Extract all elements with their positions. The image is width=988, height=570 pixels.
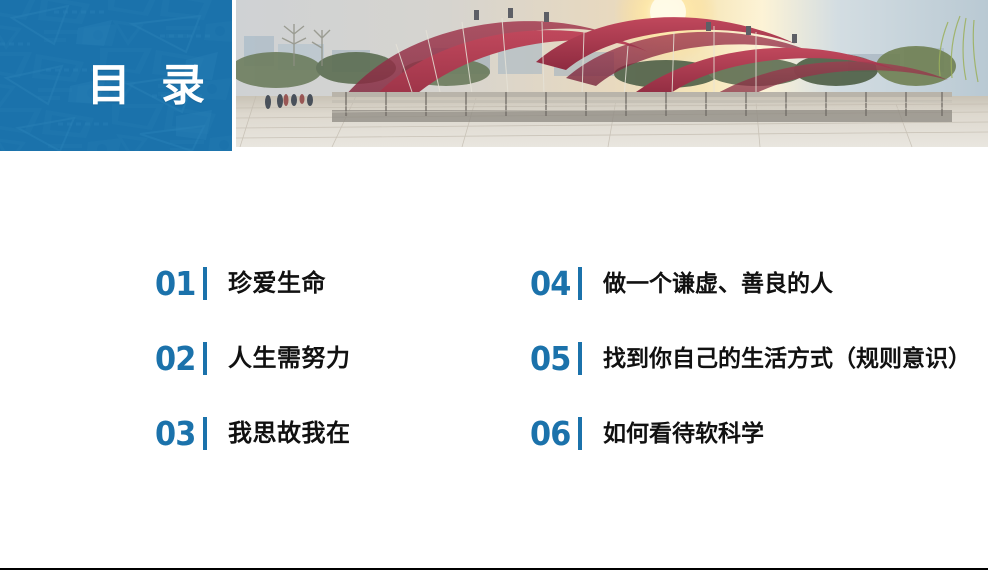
page-title: 目 录 — [87, 64, 214, 108]
toc-item-01[interactable]: 01 珍爱生命 — [155, 246, 515, 321]
toc-label: 珍爱生命 — [228, 272, 326, 296]
slide-header-band: 目 录 — [0, 0, 988, 152]
header-photo — [236, 0, 988, 147]
toc-label: 如何看待软科学 — [603, 422, 764, 445]
toc-divider — [578, 342, 582, 375]
toc-item-03[interactable]: 03 我思故我在 — [155, 396, 515, 471]
toc-label: 做一个谦虚、善良的人 — [603, 272, 833, 295]
toc-number: 04 — [530, 267, 570, 300]
toc-number: 01 — [155, 267, 195, 300]
toc-divider — [203, 267, 207, 300]
toc-divider — [578, 417, 582, 450]
toc-number: 03 — [155, 417, 195, 450]
toc-divider — [203, 342, 207, 375]
toc-number: 02 — [155, 342, 195, 375]
toc-number: 06 — [530, 417, 570, 450]
toc-divider — [203, 417, 207, 450]
toc-column-right: 04 做一个谦虚、善良的人 05 找到你自己的生活方式（规则意识） 06 如何看… — [530, 246, 988, 471]
presentation-slide: 目 录 — [0, 0, 988, 570]
toc-item-02[interactable]: 02 人生需努力 — [155, 321, 515, 396]
toc-item-06[interactable]: 06 如何看待软科学 — [530, 396, 988, 471]
toc-label: 找到你自己的生活方式（规则意识） — [603, 347, 971, 370]
toc-item-05[interactable]: 05 找到你自己的生活方式（规则意识） — [530, 321, 988, 396]
toc-label: 人生需努力 — [228, 347, 351, 371]
toc-divider — [578, 267, 582, 300]
toc-column-left: 01 珍爱生命 02 人生需努力 03 我思故我在 — [155, 246, 515, 471]
toc-label: 我思故我在 — [228, 422, 351, 446]
table-of-contents: 01 珍爱生命 02 人生需努力 03 我思故我在 04 做一个谦虚、善良的人 — [0, 246, 988, 476]
toc-item-04[interactable]: 04 做一个谦虚、善良的人 — [530, 246, 988, 321]
title-panel: 目 录 — [0, 0, 232, 151]
toc-number: 05 — [530, 342, 570, 375]
bridge-sunset-image — [236, 0, 988, 147]
